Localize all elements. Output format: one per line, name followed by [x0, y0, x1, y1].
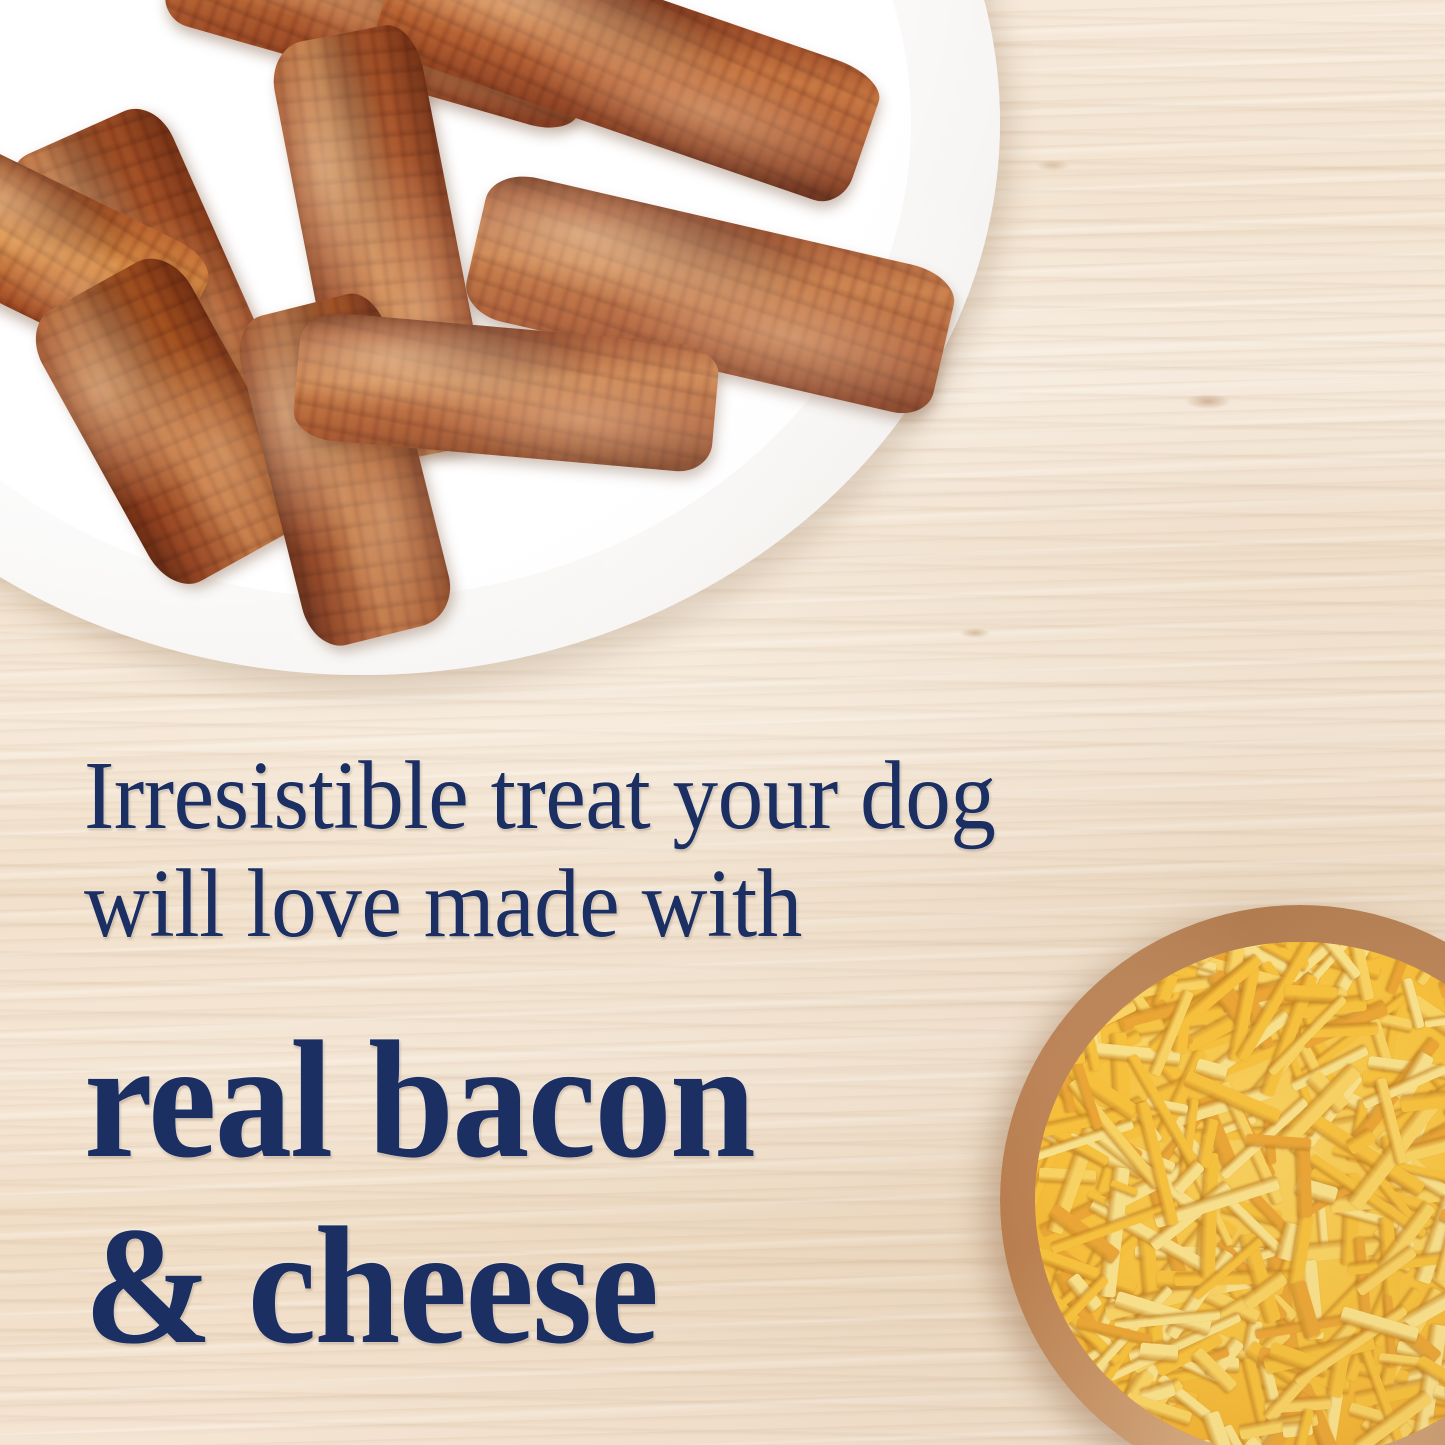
headline-line-2: will love made with	[84, 850, 1193, 958]
headline-line-3: real bacon	[84, 1016, 1170, 1184]
advertisement-image: Irresistible treat your dog will love ma…	[0, 0, 1445, 1445]
headline-line-4: & cheese	[84, 1202, 1170, 1370]
headline-line-1: Irresistible treat your dog	[84, 742, 1193, 850]
headline-block: Irresistible treat your dog will love ma…	[84, 742, 1264, 1370]
